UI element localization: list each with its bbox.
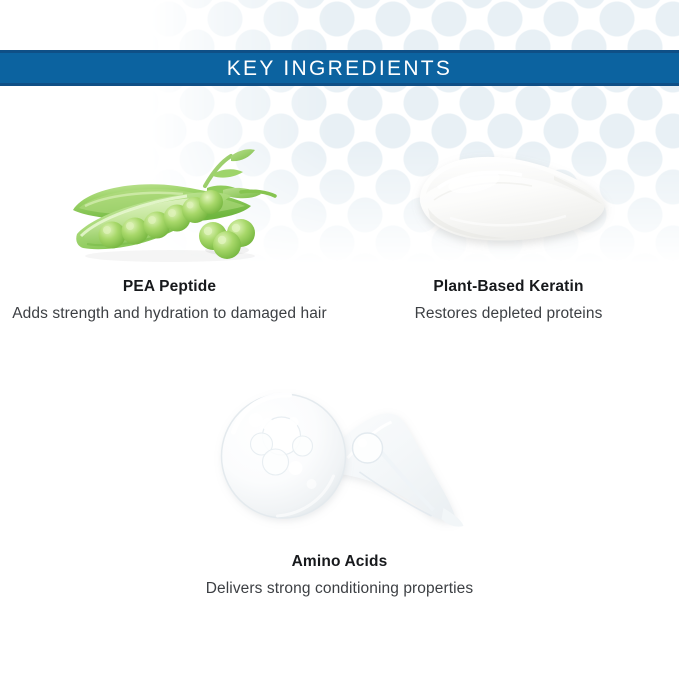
ingredient-name: PEA Peptide (123, 278, 216, 296)
ingredient-name: Amino Acids (292, 553, 388, 571)
ingredient-description: Adds strength and hydration to damaged h… (12, 303, 327, 325)
ingredients-row-top: PEA Peptide Adds strength and hydration … (0, 120, 679, 325)
key-ingredients-infographic: KEY INGREDIENTS (0, 0, 679, 679)
ingredient-card-plant-based-keratin: Plant-Based Keratin Restores depleted pr… (339, 120, 678, 325)
pea-peptide-artwork (0, 120, 339, 270)
key-ingredients-banner: KEY INGREDIENTS (0, 50, 679, 86)
gel-droplet-icon (207, 380, 472, 545)
ingredients-row-bottom: Amino Acids Delivers strong conditioning… (0, 380, 679, 600)
cream-swatch-icon (404, 142, 614, 257)
ingredient-card-pea-peptide: PEA Peptide Adds strength and hydration … (0, 120, 339, 325)
ingredient-name: Plant-Based Keratin (433, 278, 583, 296)
banner-title: KEY INGREDIENTS (227, 58, 453, 79)
plant-based-keratin-artwork (339, 120, 678, 270)
ingredient-description: Delivers strong conditioning properties (206, 578, 474, 600)
pea-pod-icon (55, 128, 285, 268)
ingredient-card-amino-acids: Amino Acids Delivers strong conditioning… (120, 380, 560, 600)
ingredient-description: Restores depleted proteins (415, 303, 603, 325)
amino-acids-artwork (120, 380, 560, 545)
